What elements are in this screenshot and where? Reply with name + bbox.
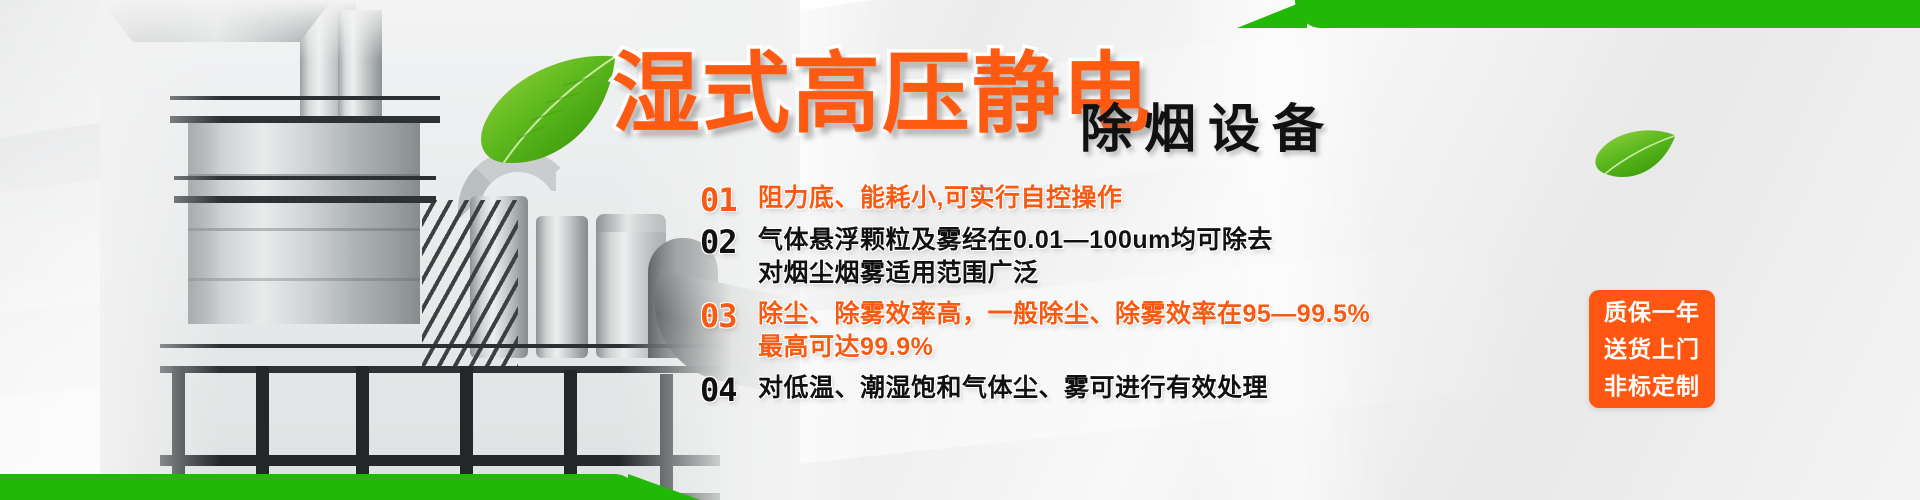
badge-line-warranty: 质保一年: [1604, 294, 1700, 331]
photo-fade-left: [100, 0, 220, 500]
photo-cylinder: [536, 216, 588, 358]
photo-main-vessel: [188, 118, 420, 324]
feature-text-line2: 对烟尘烟雾适用范围广泛: [758, 257, 1273, 290]
feature-item-01: 01 阻力底、能耗小,可实行自控操作: [700, 182, 1400, 218]
feature-text-line1: 除尘、除雾效率高，一般除尘、除雾效率在95—99.5%: [758, 298, 1370, 331]
feature-item-04: 04 对低温、潮湿饱和气体尘、雾可进行有效处理: [700, 372, 1400, 408]
feature-text-line2: 最高可达99.9%: [758, 331, 1370, 364]
page-title: 湿式高压静电: [612, 50, 1152, 138]
feature-text-line1: 气体悬浮颗粒及雾经在0.01—100um均可除去: [758, 224, 1273, 257]
page-subtitle: 除烟设备: [1080, 104, 1336, 156]
feature-item-03: 03 除尘、除雾效率高，一般除尘、除雾效率在95—99.5% 最高可达99.9%: [700, 298, 1400, 364]
feature-text-line1: 阻力底、能耗小,可实行自控操作: [758, 182, 1122, 215]
badge-line-delivery: 送货上门: [1604, 331, 1700, 368]
feature-text-line1: 对低温、潮湿饱和气体尘、雾可进行有效处理: [758, 372, 1268, 405]
feature-item-02: 02 气体悬浮颗粒及雾经在0.01—100um均可除去 对烟尘烟雾适用范围广泛: [700, 224, 1400, 290]
leaf-icon: [474, 54, 623, 167]
leaf-icon: [1590, 116, 1678, 191]
feature-number: 04: [700, 372, 758, 408]
badge-line-custom: 非标定制: [1604, 368, 1700, 405]
feature-number: 02: [700, 224, 758, 260]
green-band-top: [1295, 0, 1920, 28]
promo-banner: 湿式高压静电 除烟设备 01 阻力底、能耗小,可实行自控操作 02 气体悬浮颗粒…: [0, 0, 1920, 500]
service-guarantee-badge: 质保一年 送货上门 非标定制: [1589, 290, 1715, 408]
green-band-bottom: [0, 474, 640, 500]
feature-number: 03: [700, 298, 758, 334]
feature-number: 01: [700, 182, 758, 218]
feature-list: 01 阻力底、能耗小,可实行自控操作 02 气体悬浮颗粒及雾经在0.01—100…: [700, 182, 1400, 410]
